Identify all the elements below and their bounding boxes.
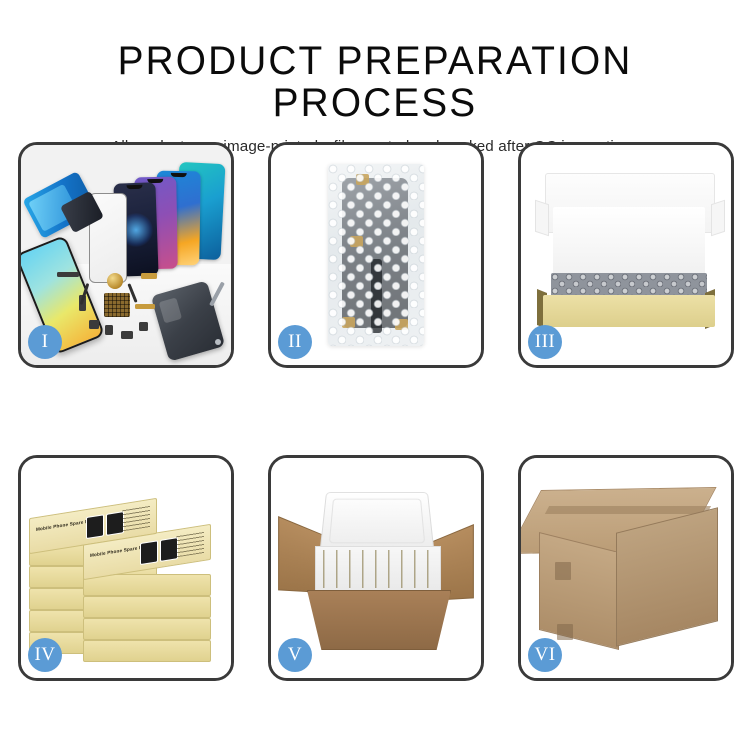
small-part-icon [121, 331, 133, 339]
process-step-1: I [18, 142, 234, 368]
box-spec-text [122, 505, 150, 531]
stacked-box [83, 640, 211, 662]
notch-icon [126, 185, 142, 190]
gold-contact-icon [141, 273, 157, 279]
process-step-3: III [518, 142, 734, 368]
carton-front-icon [307, 590, 451, 650]
box-spec-text [176, 531, 204, 557]
small-part-icon [89, 320, 99, 329]
step-badge-6: VI [528, 638, 562, 672]
notch-icon [171, 173, 187, 177]
carton-left-face [539, 532, 619, 650]
carton-tab-icon [555, 562, 571, 580]
bubble-texture [328, 164, 424, 346]
packed-boxes-icon [323, 550, 431, 588]
page-title: PRODUCT PREPARATION PROCESS [11, 0, 739, 124]
screw-icon [215, 339, 221, 345]
process-step-4: Mobile Phone Spare Parts Mobile Phone Sp… [18, 455, 234, 681]
process-step-grid: I II [18, 142, 734, 681]
box-front-icon [543, 295, 715, 327]
stacked-box [83, 574, 211, 596]
step-badge-5: V [278, 638, 312, 672]
speaker-module-icon [107, 273, 123, 289]
carton-right-face [616, 507, 718, 646]
foam-sheet-icon [553, 207, 705, 279]
flex-cable-icon [135, 304, 155, 309]
carton-tape-seam [545, 506, 711, 514]
screw-tray-icon [104, 293, 130, 317]
step-badge-2: II [278, 325, 312, 359]
connector-strip-icon [57, 272, 79, 277]
stacked-box [83, 618, 211, 640]
small-part-icon [139, 322, 148, 331]
product-preparation-infographic: PRODUCT PREPARATION PROCESS All products… [0, 0, 750, 750]
header: PRODUCT PREPARATION PROCESS All products… [0, 0, 750, 156]
process-step-6: VI [518, 455, 734, 681]
box-window-icon [140, 540, 158, 565]
stacked-box [83, 596, 211, 618]
small-part-icon [105, 325, 113, 335]
bubble-wrap-bag [328, 164, 424, 346]
step-badge-3: III [528, 325, 562, 359]
box-window-icon [86, 514, 104, 539]
styrofoam-lid-icon [320, 492, 435, 552]
process-step-5: V [268, 455, 484, 681]
carton-tab-icon [557, 624, 573, 640]
step-badge-4: IV [28, 638, 62, 672]
process-step-2: II [268, 142, 484, 368]
step-badge-1: I [28, 325, 62, 359]
